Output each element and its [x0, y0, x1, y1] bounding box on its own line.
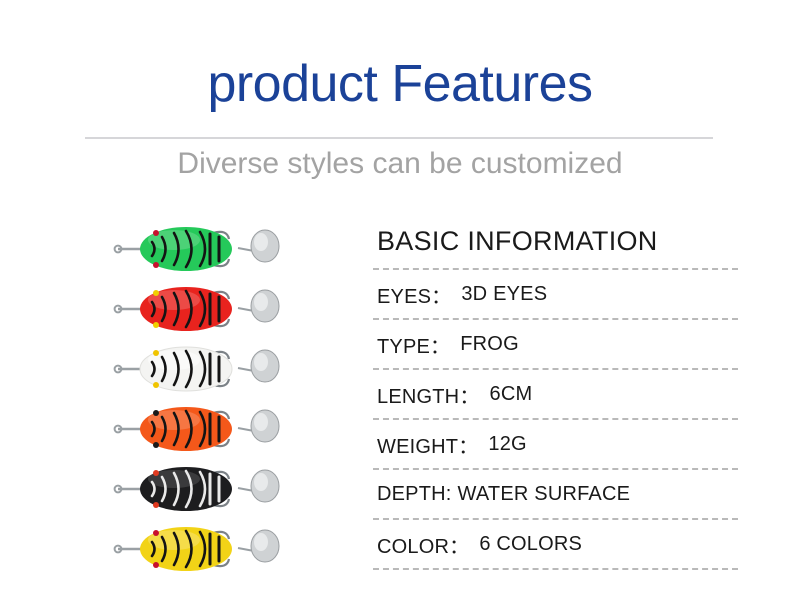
- page-subtitle: Diverse styles can be customized: [0, 146, 800, 182]
- lure-variant-white: [112, 340, 312, 398]
- spinner-blade: [238, 470, 279, 502]
- lure-variant-yellow: [112, 520, 312, 578]
- frog-lure-icon: [112, 460, 312, 518]
- hook-eye-wire: [115, 366, 142, 373]
- info-row-weight-key: WEIGHT：: [373, 430, 478, 459]
- spinner-blade: [238, 230, 279, 262]
- info-row-weight-value: 12G: [478, 433, 526, 456]
- frog-lure-icon: [112, 520, 312, 578]
- hook-eye-wire: [115, 306, 142, 313]
- lure-variant-orange: [112, 400, 312, 458]
- info-row-length-key: LENGTH：: [373, 380, 480, 409]
- spinner-blade: [238, 530, 279, 562]
- hook-eye-wire: [115, 546, 142, 553]
- hook-eye-wire: [115, 426, 142, 433]
- info-row-type: TYPE： FROG: [373, 318, 738, 368]
- basic-information-heading: BASIC INFORMATION: [373, 228, 738, 268]
- hook-eye-wire: [115, 486, 142, 493]
- spinner-blade: [238, 410, 279, 442]
- title-divider-rule: [85, 137, 713, 139]
- info-row-weight: WEIGHT： 12G: [373, 418, 738, 468]
- info-row-eyes: EYES： 3D EYES: [373, 268, 738, 318]
- hook-eye-wire: [115, 246, 142, 253]
- info-table-bottom-divider: [373, 568, 738, 570]
- info-row-eyes-key: EYES：: [373, 280, 451, 309]
- info-row-color: COLOR： 6 COLORS: [373, 518, 738, 568]
- lure-variant-black: [112, 460, 312, 518]
- info-row-depth-key: DEPTH:: [373, 483, 452, 506]
- info-row-type-value: FROG: [450, 333, 519, 356]
- lure-variant-red: [112, 280, 312, 338]
- info-row-color-key: COLOR：: [373, 530, 469, 559]
- info-row-length: LENGTH： 6CM: [373, 368, 738, 418]
- page-header: product Features Diverse styles can be c…: [0, 0, 800, 200]
- lure-variant-green: [112, 220, 312, 278]
- frog-lure-icon: [112, 400, 312, 458]
- frog-lure-icon: [112, 340, 312, 398]
- info-row-color-value: 6 COLORS: [469, 533, 582, 556]
- frog-lure-icon: [112, 280, 312, 338]
- info-row-depth: DEPTH: WATER SURFACE: [373, 468, 738, 518]
- basic-information-panel: BASIC INFORMATION EYES： 3D EYES TYPE： FR…: [373, 228, 738, 570]
- product-color-variants: [112, 216, 332, 576]
- frog-lure-icon: [112, 220, 312, 278]
- spinner-blade: [238, 290, 279, 322]
- info-row-eyes-value: 3D EYES: [451, 283, 547, 306]
- info-row-type-key: TYPE：: [373, 330, 450, 359]
- info-row-length-value: 6CM: [480, 383, 533, 406]
- info-row-depth-value: WATER SURFACE: [452, 483, 631, 506]
- spinner-blade: [238, 350, 279, 382]
- page-title: product Features: [0, 58, 800, 110]
